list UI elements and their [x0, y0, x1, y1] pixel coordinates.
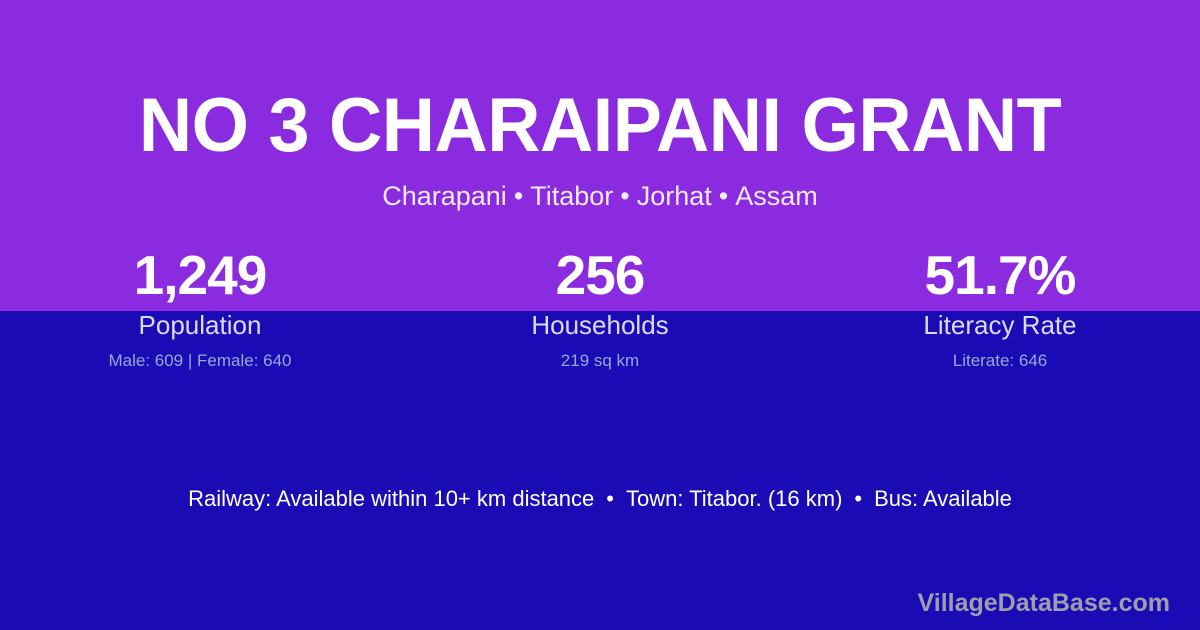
- stat-sublabel: Male: 609 | Female: 640: [0, 350, 400, 372]
- breadcrumb-separator-3: •: [712, 181, 735, 211]
- breadcrumb-state: Assam: [735, 181, 818, 211]
- stat-value: 51.7%: [800, 244, 1200, 306]
- stat-population: 1,249 Population Male: 609 | Female: 640: [0, 244, 400, 372]
- stat-label: Literacy Rate: [800, 310, 1200, 340]
- stats-row: 1,249 Population Male: 609 | Female: 640…: [0, 244, 1200, 372]
- amenity-bus: Bus: Available: [874, 486, 1012, 511]
- breadcrumb-panchayat: Charapani: [382, 181, 507, 211]
- amenity-separator-2: •: [842, 486, 874, 511]
- breadcrumb-district: Jorhat: [637, 181, 712, 211]
- amenities-line: Railway: Available within 10+ km distanc…: [0, 484, 1200, 514]
- amenity-separator-1: •: [594, 486, 626, 511]
- breadcrumb-separator-1: •: [507, 181, 530, 211]
- card-header: NO 3 CHARAIPANI GRANT Charapani•Titabor•…: [0, 0, 1200, 212]
- amenity-town: Town: Titabor. (16 km): [626, 486, 842, 511]
- stat-label: Households: [400, 310, 800, 340]
- breadcrumb-separator-2: •: [613, 181, 636, 211]
- page-title: NO 3 CHARAIPANI GRANT: [18, 86, 1182, 166]
- amenity-railway: Railway: Available within 10+ km distanc…: [188, 486, 594, 511]
- stat-value: 256: [400, 244, 800, 306]
- stat-literacy-rate: 51.7% Literacy Rate Literate: 646: [800, 244, 1200, 372]
- breadcrumb-block: Titabor: [530, 181, 613, 211]
- location-breadcrumb: Charapani•Titabor•Jorhat•Assam: [0, 180, 1200, 212]
- stat-value: 1,249: [0, 244, 400, 306]
- stat-label: Population: [0, 310, 400, 340]
- stat-households: 256 Households 219 sq km: [400, 244, 800, 372]
- stat-sublabel: 219 sq km: [400, 350, 800, 372]
- stat-sublabel: Literate: 646: [800, 350, 1200, 372]
- site-brand-watermark: VillageDataBase.com: [918, 588, 1170, 618]
- village-info-card: NO 3 CHARAIPANI GRANT Charapani•Titabor•…: [0, 0, 1200, 630]
